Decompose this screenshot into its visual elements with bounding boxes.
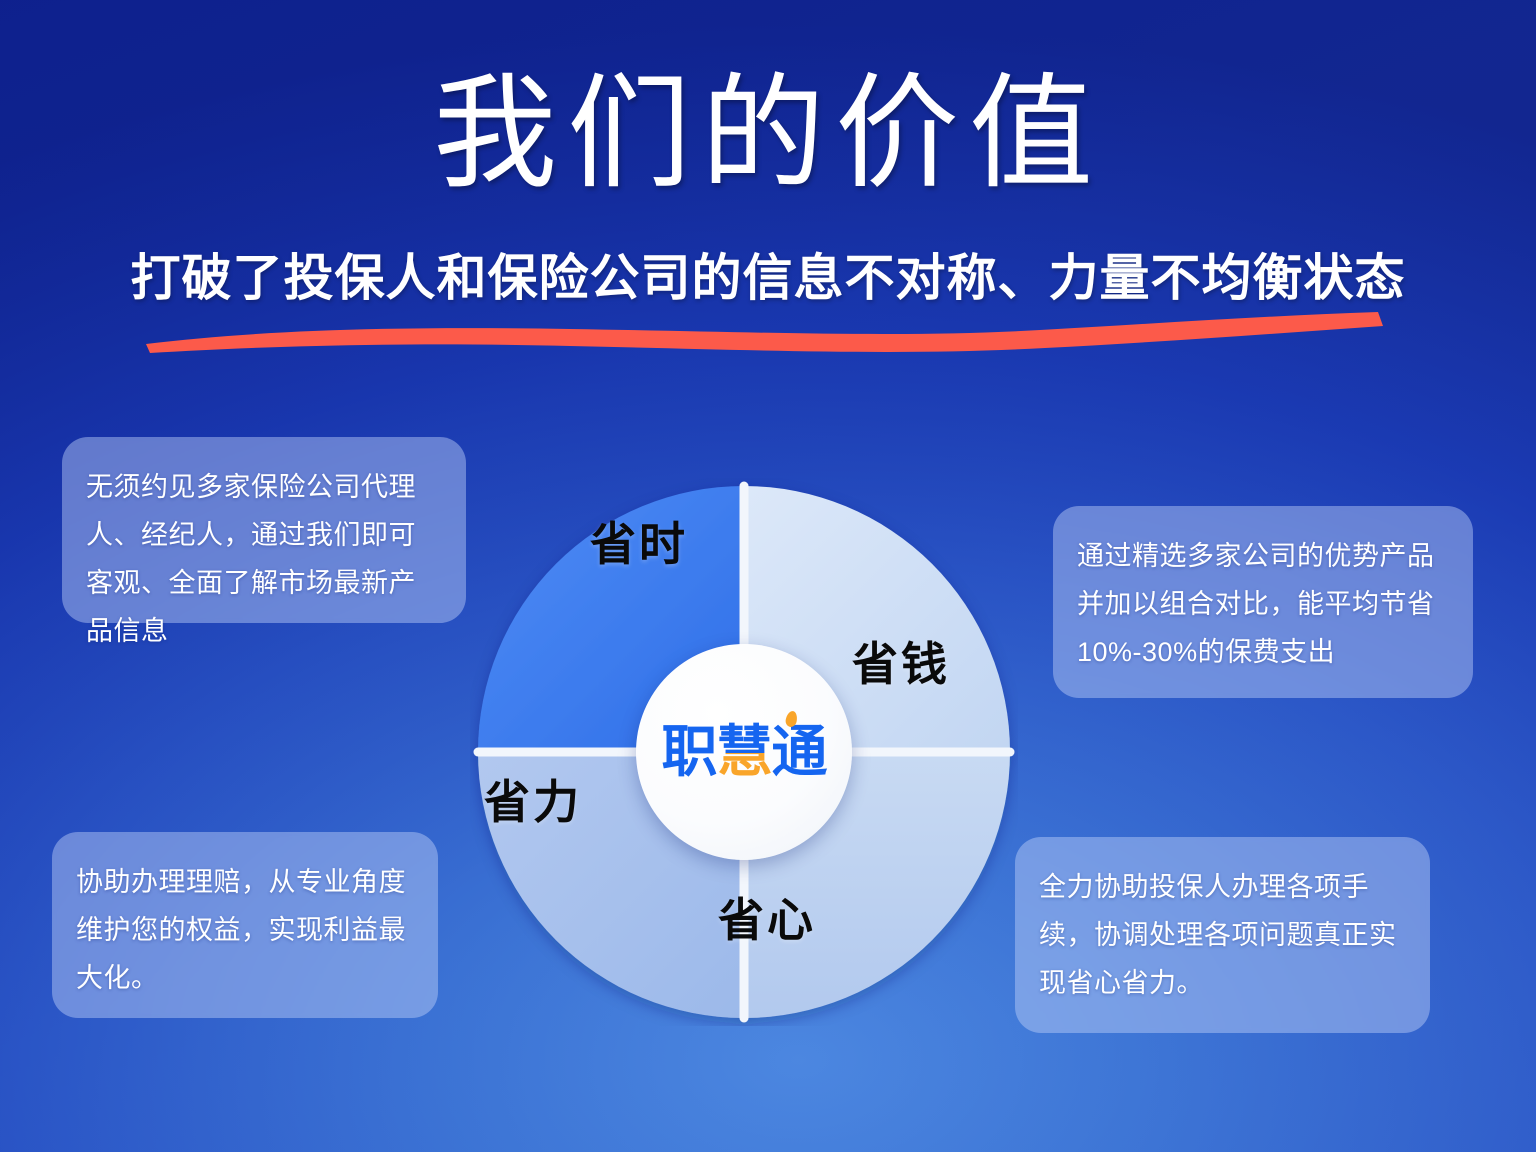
underline-brush-icon <box>140 308 1385 354</box>
value-card-bottom-left: 协助办理理赔，从专业角度维护您的权益，实现利益最大化。 <box>52 832 438 1018</box>
brand-logo: 职慧通 <box>662 724 827 780</box>
brand-hub: 职慧通 <box>636 644 852 860</box>
page-title: 我们的价值 <box>0 68 1536 202</box>
donut-label-shixin: 省心 <box>718 884 816 950</box>
value-card-top-right: 通过精选多家公司的优势产品并加以组合对比，能平均节省10%-30%的保费支出 <box>1053 506 1473 698</box>
donut-label-shishi: 省时 <box>590 508 688 574</box>
value-card-top-left: 无须约见多家保险公司代理人、经纪人，通过我们即可客观、全面了解市场最新产品信息 <box>62 437 466 623</box>
donut-label-shili: 省力 <box>484 766 582 832</box>
value-donut-chart: 省时 省钱 省心 省力 职慧通 <box>470 478 1018 1026</box>
slide-canvas: 我们的价值 打破了投保人和保险公司的信息不对称、力量不均衡状态 无须约见多家保险… <box>0 0 1536 1152</box>
donut-label-shiqian: 省钱 <box>852 628 950 694</box>
value-card-bottom-right: 全力协助投保人办理各项手续，协调处理各项问题真正实现省心省力。 <box>1015 837 1430 1033</box>
subtitle-block: 打破了投保人和保险公司的信息不对称、力量不均衡状态 <box>0 248 1536 358</box>
subtitle-text: 打破了投保人和保险公司的信息不对称、力量不均衡状态 <box>131 248 1406 308</box>
logo-char-tong: 通 <box>772 720 827 783</box>
logo-char-hui: 慧 <box>717 720 772 783</box>
logo-char-zhi: 职 <box>662 720 717 783</box>
